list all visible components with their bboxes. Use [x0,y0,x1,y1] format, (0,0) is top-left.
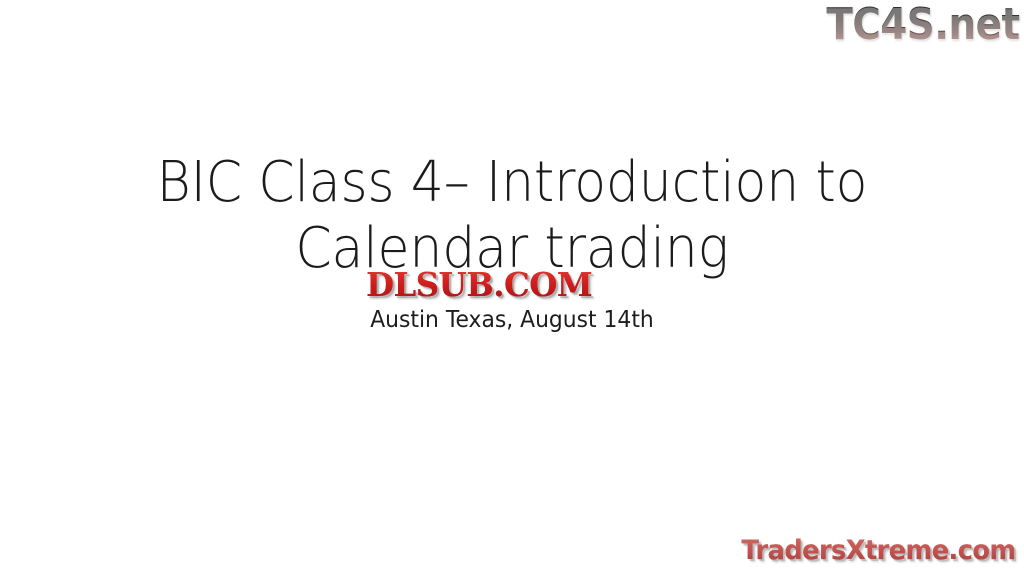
slide-subtitle: Austin Texas, August 14th [132,307,892,335]
watermark-tradersxtreme-com: TradersXtreme.com TradersXtreme.com [742,536,1016,566]
watermark-dlsub-fill: DLSUB.COM [366,267,592,303]
watermark-tc4s-net: TC4S.net [827,2,1020,48]
title-block: BIC Class 4– Introduction to Calendar tr… [112,150,912,281]
presentation-slide: BIC Class 4– Introduction to Calendar tr… [0,0,1024,576]
watermark-tradersxtreme-fill: TradersXtreme.com [742,536,1016,566]
slide-title: BIC Class 4– Introduction to Calendar tr… [140,150,884,281]
watermark-dlsub-com: DLSUB.COM DLSUB.COM [366,267,592,303]
